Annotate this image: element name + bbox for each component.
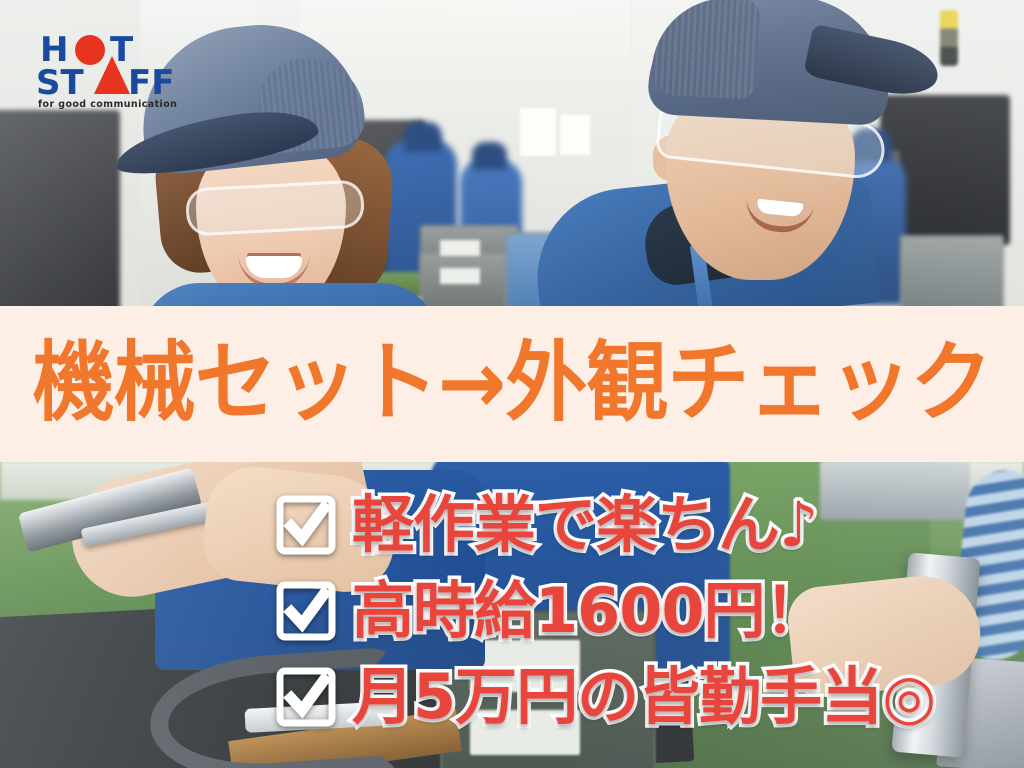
male-worker bbox=[545, 0, 965, 315]
benefit-checklist: 軽作業で楽ちん♪ 高時給1600円！ 月5万円の皆勤手当◎ bbox=[276, 482, 1016, 740]
job-ad-banner: H T ST FF for good communication 機械セット→外… bbox=[0, 0, 1024, 768]
list-item: 高時給1600円！ bbox=[276, 568, 1016, 654]
logo-tagline: for good communication bbox=[38, 99, 177, 110]
teeth bbox=[246, 256, 302, 278]
safety-glasses bbox=[185, 179, 365, 236]
logo-st-text: ST bbox=[36, 63, 84, 103]
list-item-label: 軽作業で楽ちん♪ bbox=[352, 494, 818, 556]
logo-graphic: H T ST FF for good communication bbox=[34, 28, 184, 110]
checkbox-checked-icon bbox=[276, 581, 336, 641]
list-item: 軽作業で楽ちん♪ bbox=[276, 482, 1016, 568]
logo-red-circle bbox=[75, 35, 105, 65]
checkbox-checked-icon bbox=[276, 495, 336, 555]
hot-staff-logo: H T ST FF for good communication bbox=[34, 28, 184, 110]
headline-band: 機械セット→外観チェック bbox=[0, 306, 1024, 462]
list-item-label: 高時給1600円！ bbox=[352, 580, 826, 642]
cnc-machine bbox=[0, 110, 120, 315]
headline-title: 機械セット→外観チェック bbox=[33, 341, 992, 428]
logo-ff-text: FF bbox=[128, 63, 174, 103]
background-worker-cap bbox=[472, 142, 507, 170]
cap-mesh bbox=[650, 0, 760, 100]
list-item: 月5万円の皆勤手当◎ bbox=[276, 654, 1016, 740]
checkbox-checked-icon bbox=[276, 667, 336, 727]
list-item-label: 月5万円の皆勤手当◎ bbox=[352, 666, 935, 728]
